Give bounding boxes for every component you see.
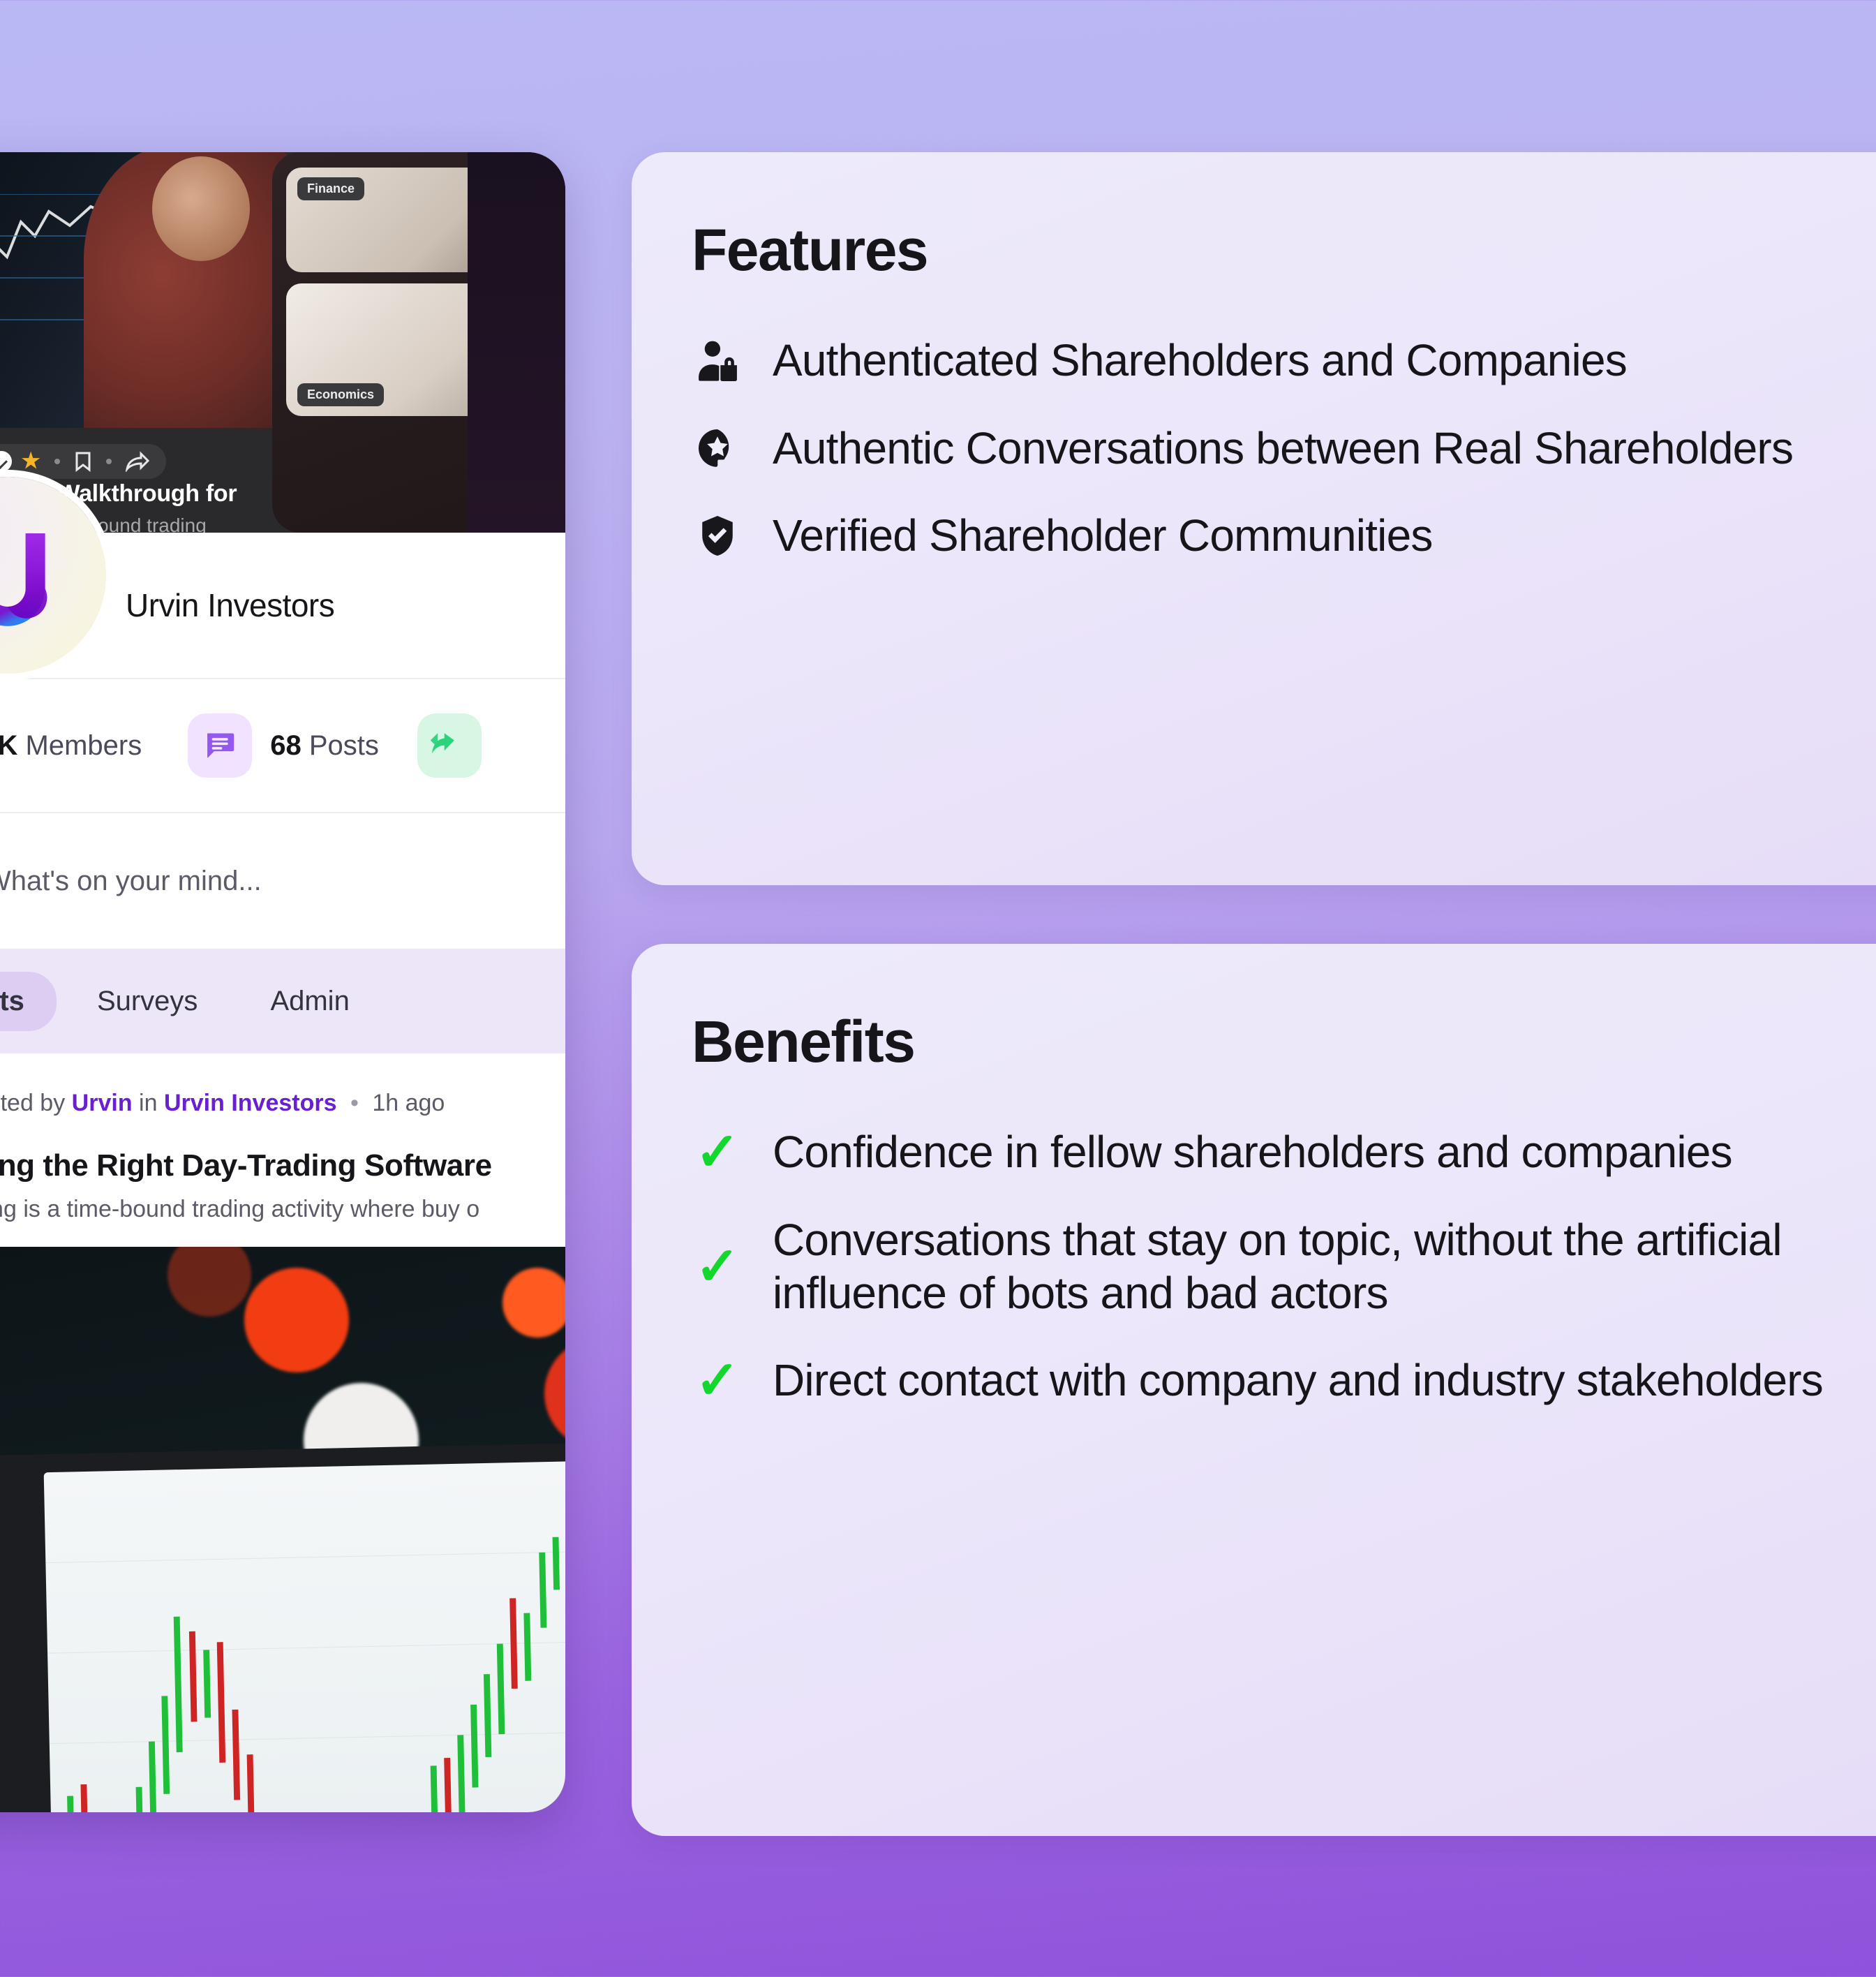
hero-photo-trader xyxy=(0,152,307,428)
check-icon: ✓ xyxy=(692,1241,743,1294)
feature-text: Authentic Conversations between Real Sha… xyxy=(773,422,1793,475)
benefit-text: Conversations that stay on topic, withou… xyxy=(773,1214,1861,1319)
hero-article-card: APL ↑ 0.31% ★ Investing 101-Walkthrough … xyxy=(0,152,565,533)
phone-mockup: APL ↑ 0.31% ★ Investing 101-Walkthrough … xyxy=(0,152,565,1812)
members-label: Members xyxy=(26,730,142,761)
verified-badge-icon xyxy=(0,451,12,472)
post-author-link[interactable]: Urvin xyxy=(72,1090,133,1116)
feature-item: Authentic Conversations between Real Sha… xyxy=(692,422,1876,475)
stat-posts[interactable]: 68 Posts xyxy=(188,713,379,778)
feed-post: Posted by Urvin in Urvin Investors • 1h … xyxy=(0,1053,565,1812)
post-time: 1h ago xyxy=(372,1090,445,1116)
benefits-title: Benefits xyxy=(692,1008,1876,1076)
features-list: Authenticated Shareholders and Companies… xyxy=(692,334,1876,563)
post-title[interactable]: Choosing the Right Day-Trading Software xyxy=(0,1148,565,1183)
posts-stat-text: 68 Posts xyxy=(270,730,379,762)
post-community-link[interactable]: Urvin Investors xyxy=(164,1090,337,1116)
post-meta-separator: • xyxy=(350,1090,359,1116)
features-card: Features Authenticated Shareholders and … xyxy=(632,152,1876,885)
star-icon[interactable]: ★ xyxy=(22,451,40,472)
dot-separator xyxy=(106,459,112,464)
dot-separator xyxy=(54,459,60,464)
phone-content: Urvin Investors 23K Members xyxy=(0,533,565,1812)
benefits-list: ✓ Confidence in fellow shareholders and … xyxy=(692,1126,1876,1407)
tablet-candlestick-chart xyxy=(44,1461,565,1812)
feature-text: Verified Shareholder Communities xyxy=(773,510,1433,563)
composer-placeholder[interactable]: What's on your mind... xyxy=(0,866,262,897)
hero-person-head xyxy=(152,156,250,261)
check-icon: ✓ xyxy=(692,1126,743,1179)
post-meta: Posted by Urvin in Urvin Investors • 1h … xyxy=(0,1090,445,1117)
features-title: Features xyxy=(692,216,1876,284)
benefit-text: Direct contact with company and industry… xyxy=(773,1354,1823,1407)
tag-finance: Finance xyxy=(297,177,364,200)
tablet-device xyxy=(0,1443,565,1812)
reply-all-icon[interactable] xyxy=(417,713,482,778)
posts-icon xyxy=(188,713,252,778)
stat-members[interactable]: 23K Members xyxy=(0,713,142,778)
community-name: Urvin Investors xyxy=(126,586,334,624)
posts-count: 68 xyxy=(270,730,301,761)
post-image xyxy=(0,1247,565,1812)
community-stats: 23K Members 68 Posts xyxy=(0,679,565,812)
feature-text: Authenticated Shareholders and Companies xyxy=(773,334,1627,387)
benefit-item: ✓ Confidence in fellow shareholders and … xyxy=(692,1126,1876,1179)
post-body: Day trading is a time-bound trading acti… xyxy=(0,1196,565,1223)
urvin-logo-icon xyxy=(0,523,53,628)
posts-label: Posts xyxy=(309,730,379,761)
tab-posts[interactable]: Posts xyxy=(0,972,57,1031)
ticker-pill[interactable]: APL ↑ 0.31% ★ xyxy=(0,444,166,479)
hero-media-collage: Finance Economics xyxy=(272,152,565,533)
star-badge-icon xyxy=(692,427,743,470)
candlestick-svg xyxy=(44,1461,565,1812)
share-icon[interactable] xyxy=(126,451,149,472)
shield-check-icon xyxy=(692,513,743,559)
benefit-text: Confidence in fellow shareholders and co… xyxy=(773,1126,1732,1179)
user-lock-icon xyxy=(692,338,743,384)
composer-row[interactable]: What's on your mind... xyxy=(0,812,565,949)
bookmark-icon[interactable] xyxy=(74,451,92,472)
feed-tabs: Posts Surveys Admin xyxy=(0,949,565,1053)
tab-admin[interactable]: Admin xyxy=(238,972,381,1031)
feature-item: Verified Shareholder Communities xyxy=(692,510,1876,563)
feature-item: Authenticated Shareholders and Companies xyxy=(692,334,1876,387)
collage-chart-strip xyxy=(468,152,565,533)
members-count: 23K xyxy=(0,730,17,761)
post-header: Posted by Urvin in Urvin Investors • 1h … xyxy=(0,1079,565,1127)
members-stat-text: 23K Members xyxy=(0,730,142,762)
tag-economics: Economics xyxy=(297,383,384,406)
post-posted-by-label: Posted by xyxy=(0,1090,65,1116)
benefit-item: ✓ Conversations that stay on topic, with… xyxy=(692,1214,1876,1319)
tab-surveys[interactable]: Surveys xyxy=(65,972,230,1031)
benefits-card: Benefits ✓ Confidence in fellow sharehol… xyxy=(632,944,1876,1836)
post-in-word: in xyxy=(139,1090,157,1116)
benefit-item: ✓ Direct contact with company and indust… xyxy=(692,1354,1876,1407)
check-icon: ✓ xyxy=(692,1354,743,1407)
